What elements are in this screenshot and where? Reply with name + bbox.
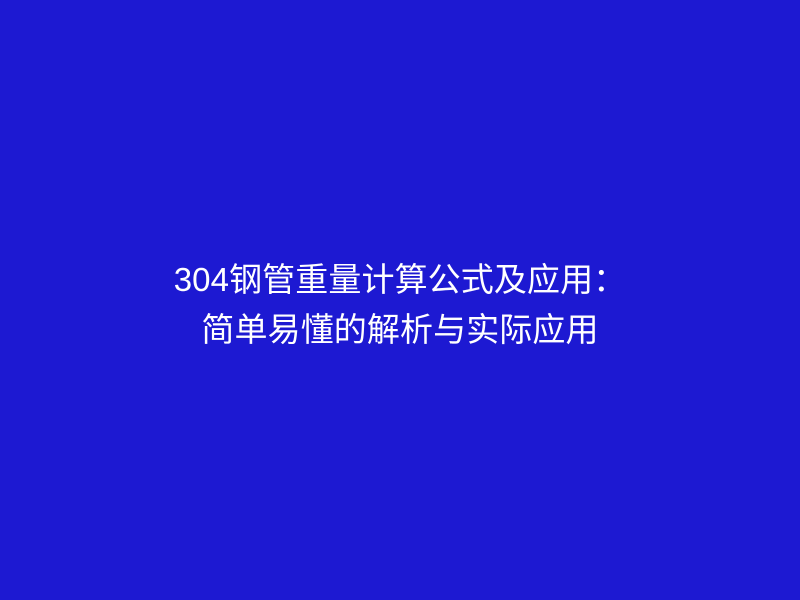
title-block: 304钢管重量计算公式及应用：简单易懂的解析与实际应用 (0, 255, 800, 355)
slide-title: 304钢管重量计算公式及应用：简单易懂的解析与实际应用 (36, 255, 764, 355)
slide-canvas: 304钢管重量计算公式及应用：简单易懂的解析与实际应用 (0, 0, 800, 600)
